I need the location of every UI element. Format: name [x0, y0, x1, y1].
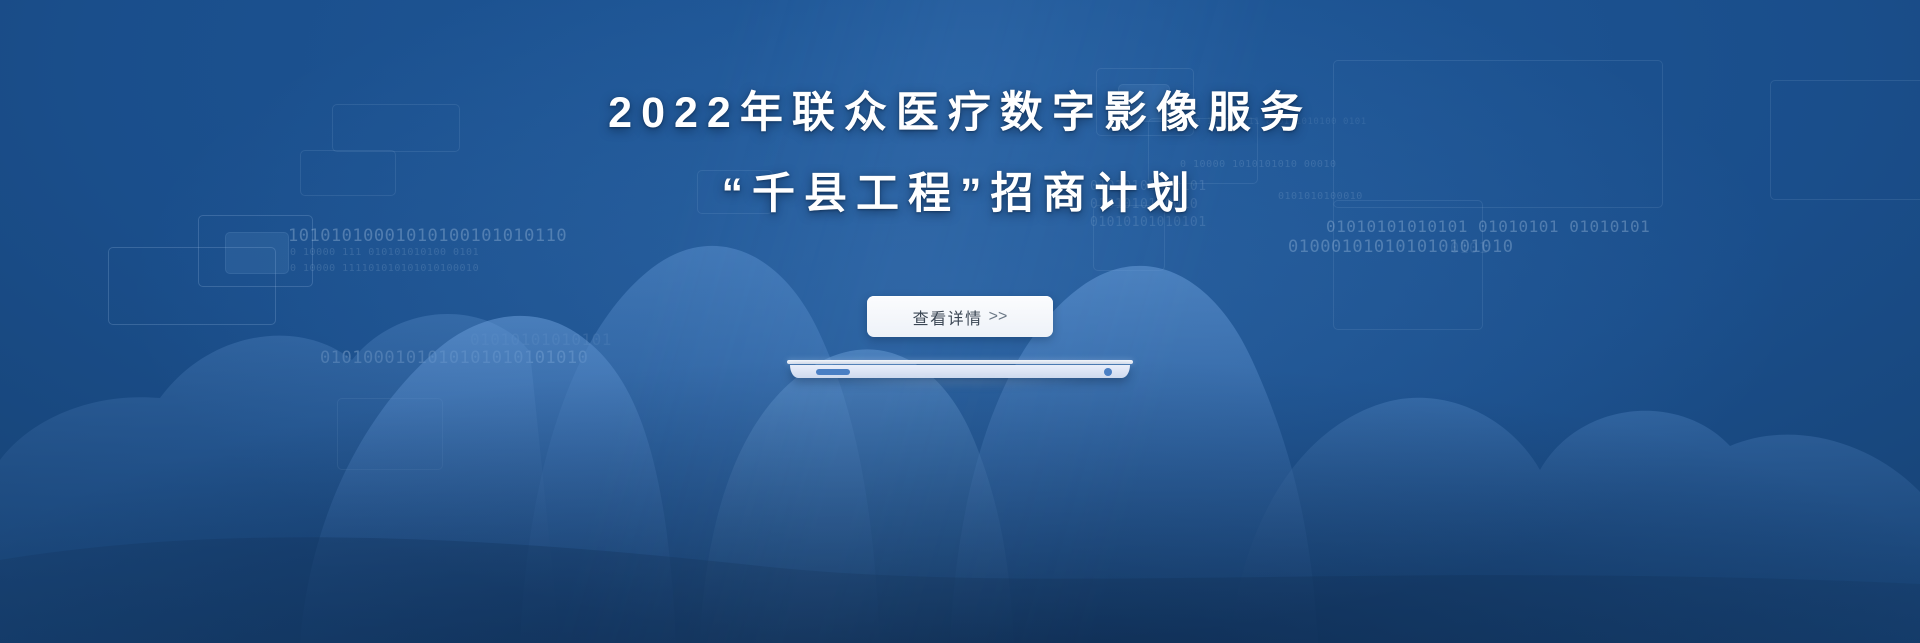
promo-banner: 10101010001010100101010110 0 10000 111 0… [0, 0, 1920, 643]
laptop-base-illustration [787, 360, 1133, 382]
laptop-screen-lip [787, 360, 1133, 364]
title-line-2: “千县工程”招商计划 [0, 173, 1920, 216]
laptop-indicator-dot [1104, 368, 1112, 376]
laptop-body [790, 365, 1130, 378]
view-details-label: 查看详情 [913, 305, 983, 329]
view-details-button[interactable]: 查看详情 >> [867, 296, 1053, 337]
chevron-right-double-icon: >> [989, 308, 1008, 326]
banner-title: 2022年联众医疗数字影像服务 “千县工程”招商计划 [0, 92, 1920, 216]
laptop-glow [777, 378, 1143, 394]
laptop-notch [816, 369, 850, 375]
title-line-1: 2022年联众医疗数字影像服务 [0, 92, 1920, 135]
